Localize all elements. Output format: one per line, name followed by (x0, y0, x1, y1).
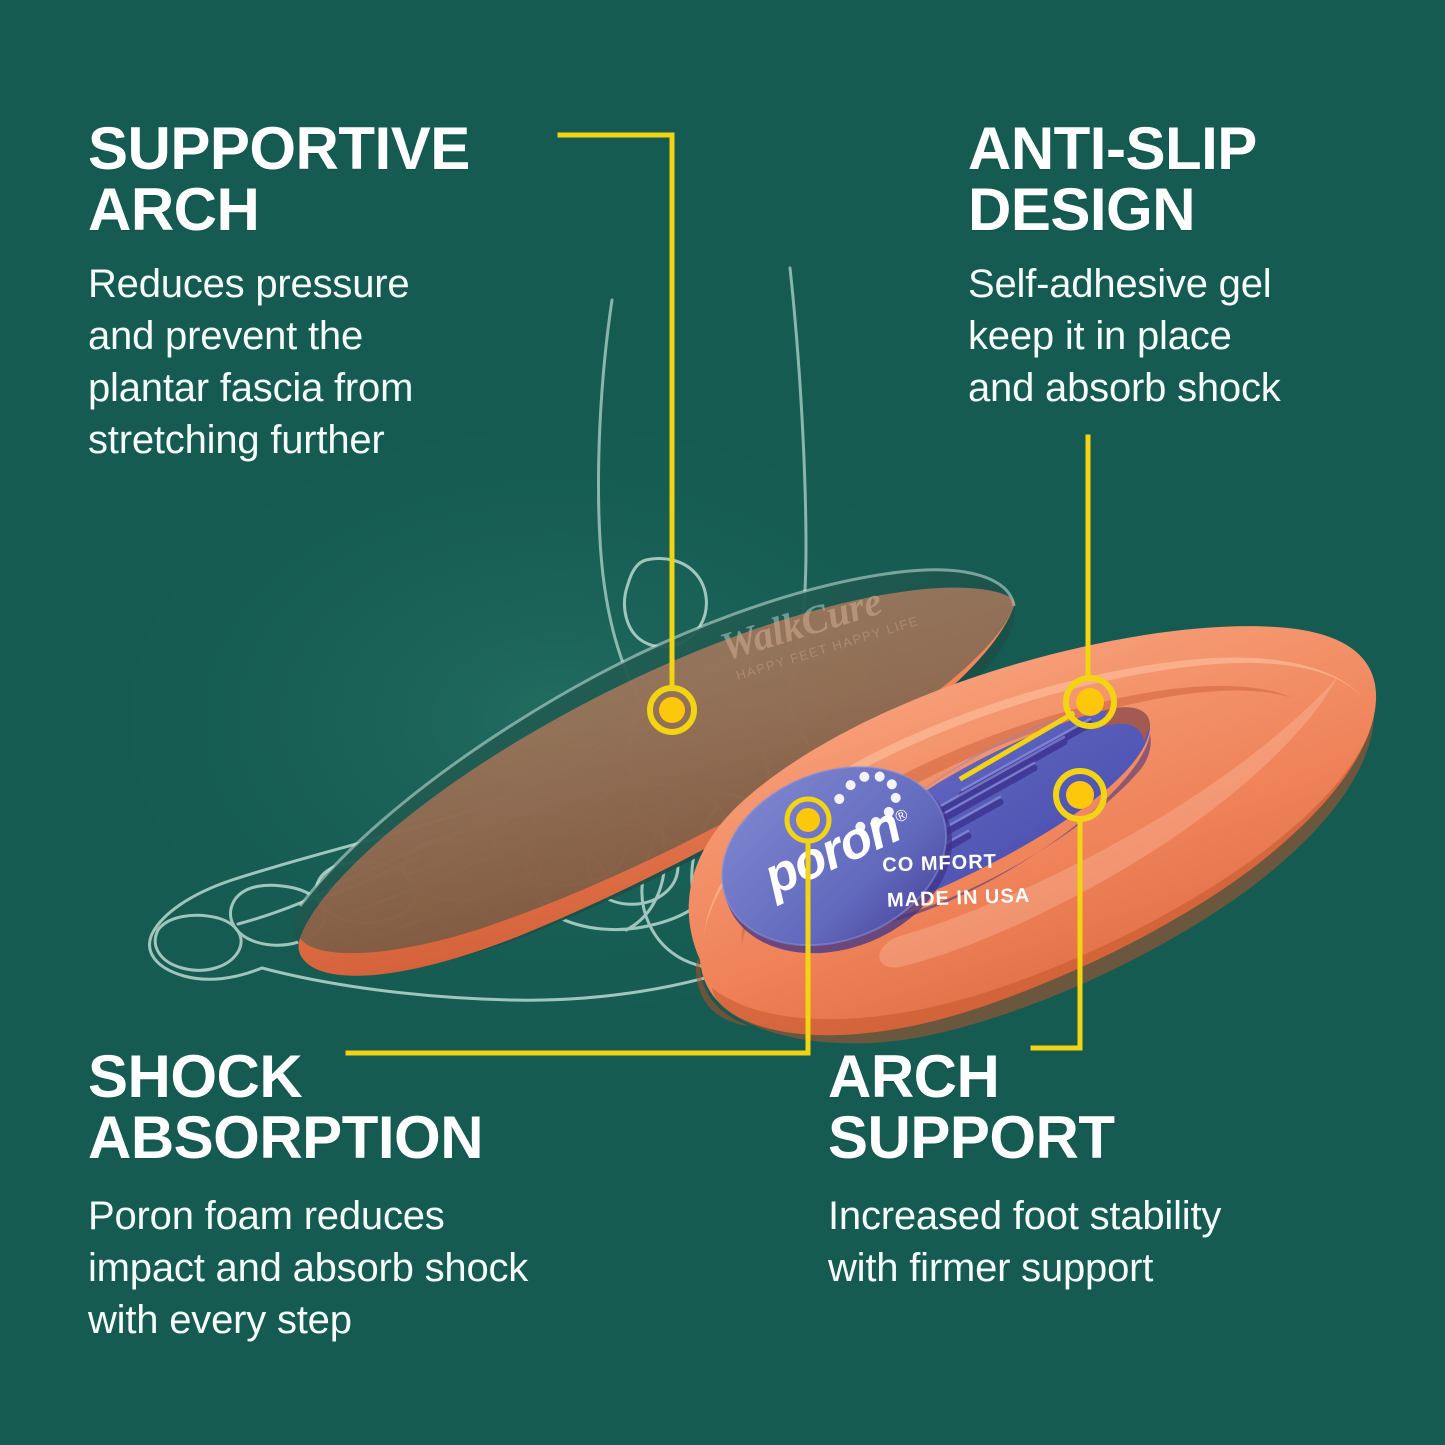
feature-description-arch-support: Increased foot stability with firmer sup… (828, 1190, 1388, 1294)
feature-supportive-arch: SUPPORTIVE ARCH Reduces pressure and pre… (88, 118, 608, 466)
svg-text:CO MFORT: CO MFORT (882, 851, 997, 877)
feature-title-anti-slip-design: ANTI-SLIP DESIGN (968, 118, 1398, 240)
feature-description-shock-absorption: Poron foam reduces impact and absorb sho… (88, 1190, 708, 1346)
infographic-canvas: WalkCure HAPPY FEET HAPPY LIFE (0, 0, 1445, 1445)
feature-anti-slip-design: ANTI-SLIP DESIGN Self-adhesive gel keep … (968, 118, 1398, 414)
feature-shock-absorption: SHOCK ABSORPTION Poron foam reduces impa… (88, 1046, 708, 1346)
feature-title-shock-absorption: SHOCK ABSORPTION (88, 1046, 708, 1168)
feature-description-anti-slip-design: Self-adhesive gel keep it in place and a… (968, 258, 1398, 414)
feature-title-arch-support: ARCH SUPPORT (828, 1046, 1388, 1168)
feature-arch-support: ARCH SUPPORT Increased foot stability wi… (828, 1046, 1388, 1294)
feature-title-supportive-arch: SUPPORTIVE ARCH (88, 118, 608, 240)
feature-description-supportive-arch: Reduces pressure and prevent the plantar… (88, 258, 608, 466)
